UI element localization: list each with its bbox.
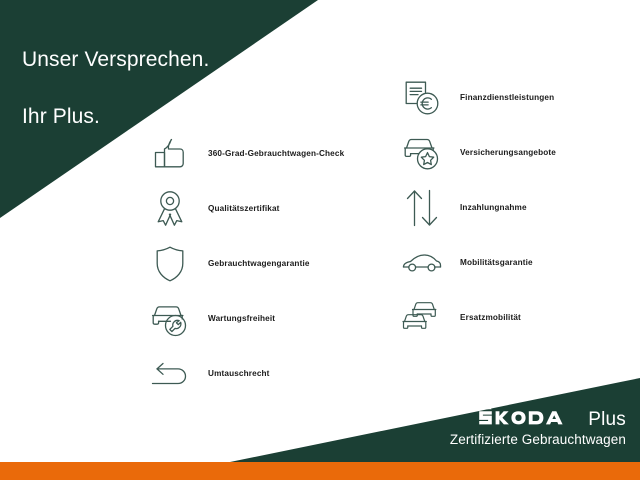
brand-logo: Plus Zertifizierte Gebrauchtwagen <box>450 405 626 447</box>
two-cars-icon <box>400 296 444 340</box>
brand-tagline: Zertifizierte Gebrauchtwagen <box>450 432 626 447</box>
feature-item: Inzahlungnahme <box>400 180 556 235</box>
shield-icon <box>148 242 192 286</box>
brand-logo-top: Plus <box>450 405 626 429</box>
feature-label: 360-Grad-Gebrauchtwagen-Check <box>208 149 344 158</box>
feature-label: Wartungsfreiheit <box>208 314 275 323</box>
feature-label: Inzahlungnahme <box>460 203 527 212</box>
feature-label: Ersatzmobilität <box>460 313 521 322</box>
car-wrench-icon <box>148 297 192 341</box>
feature-list-right: Finanzdienstleistungen Versicherungsange… <box>400 70 556 345</box>
feature-item: 360-Grad-Gebrauchtwagen-Check <box>148 126 344 181</box>
up-down-arrows-icon <box>400 186 444 230</box>
car-side-icon <box>400 241 444 285</box>
feature-item: Mobilitätsgarantie <box>400 235 556 290</box>
orange-footer-bar <box>0 462 640 480</box>
thumbs-up-icon <box>148 132 192 176</box>
headline-line-1: Unser Versprechen. <box>22 46 322 74</box>
feature-label: Versicherungsangebote <box>460 148 556 157</box>
feature-label: Gebrauchtwagengarantie <box>208 259 310 268</box>
feature-label: Qualitätszertifikat <box>208 204 280 213</box>
feature-item: Finanzdienstleistungen <box>400 70 556 125</box>
document-euro-icon <box>400 76 444 120</box>
promo-slide: Unser Versprechen. Ihr Plus. 360-Grad-Ge… <box>0 0 640 480</box>
feature-item: Gebrauchtwagengarantie <box>148 236 344 291</box>
feature-list-left: 360-Grad-Gebrauchtwagen-Check Qualitätsz… <box>148 126 344 401</box>
rosette-award-icon <box>148 187 192 231</box>
feature-item: Qualitätszertifikat <box>148 181 344 236</box>
feature-item: Versicherungsangebote <box>400 125 556 180</box>
feature-item: Wartungsfreiheit <box>148 291 344 346</box>
feature-label: Umtauschrecht <box>208 369 270 378</box>
return-arrow-icon <box>148 352 192 396</box>
feature-label: Mobilitätsgarantie <box>460 258 533 267</box>
brand-suffix: Plus <box>588 410 626 429</box>
skoda-wordmark-icon <box>477 405 581 425</box>
feature-label: Finanzdienstleistungen <box>460 93 554 102</box>
feature-item: Umtauschrecht <box>148 346 344 401</box>
car-star-icon <box>400 131 444 175</box>
feature-item: Ersatzmobilität <box>400 290 556 345</box>
